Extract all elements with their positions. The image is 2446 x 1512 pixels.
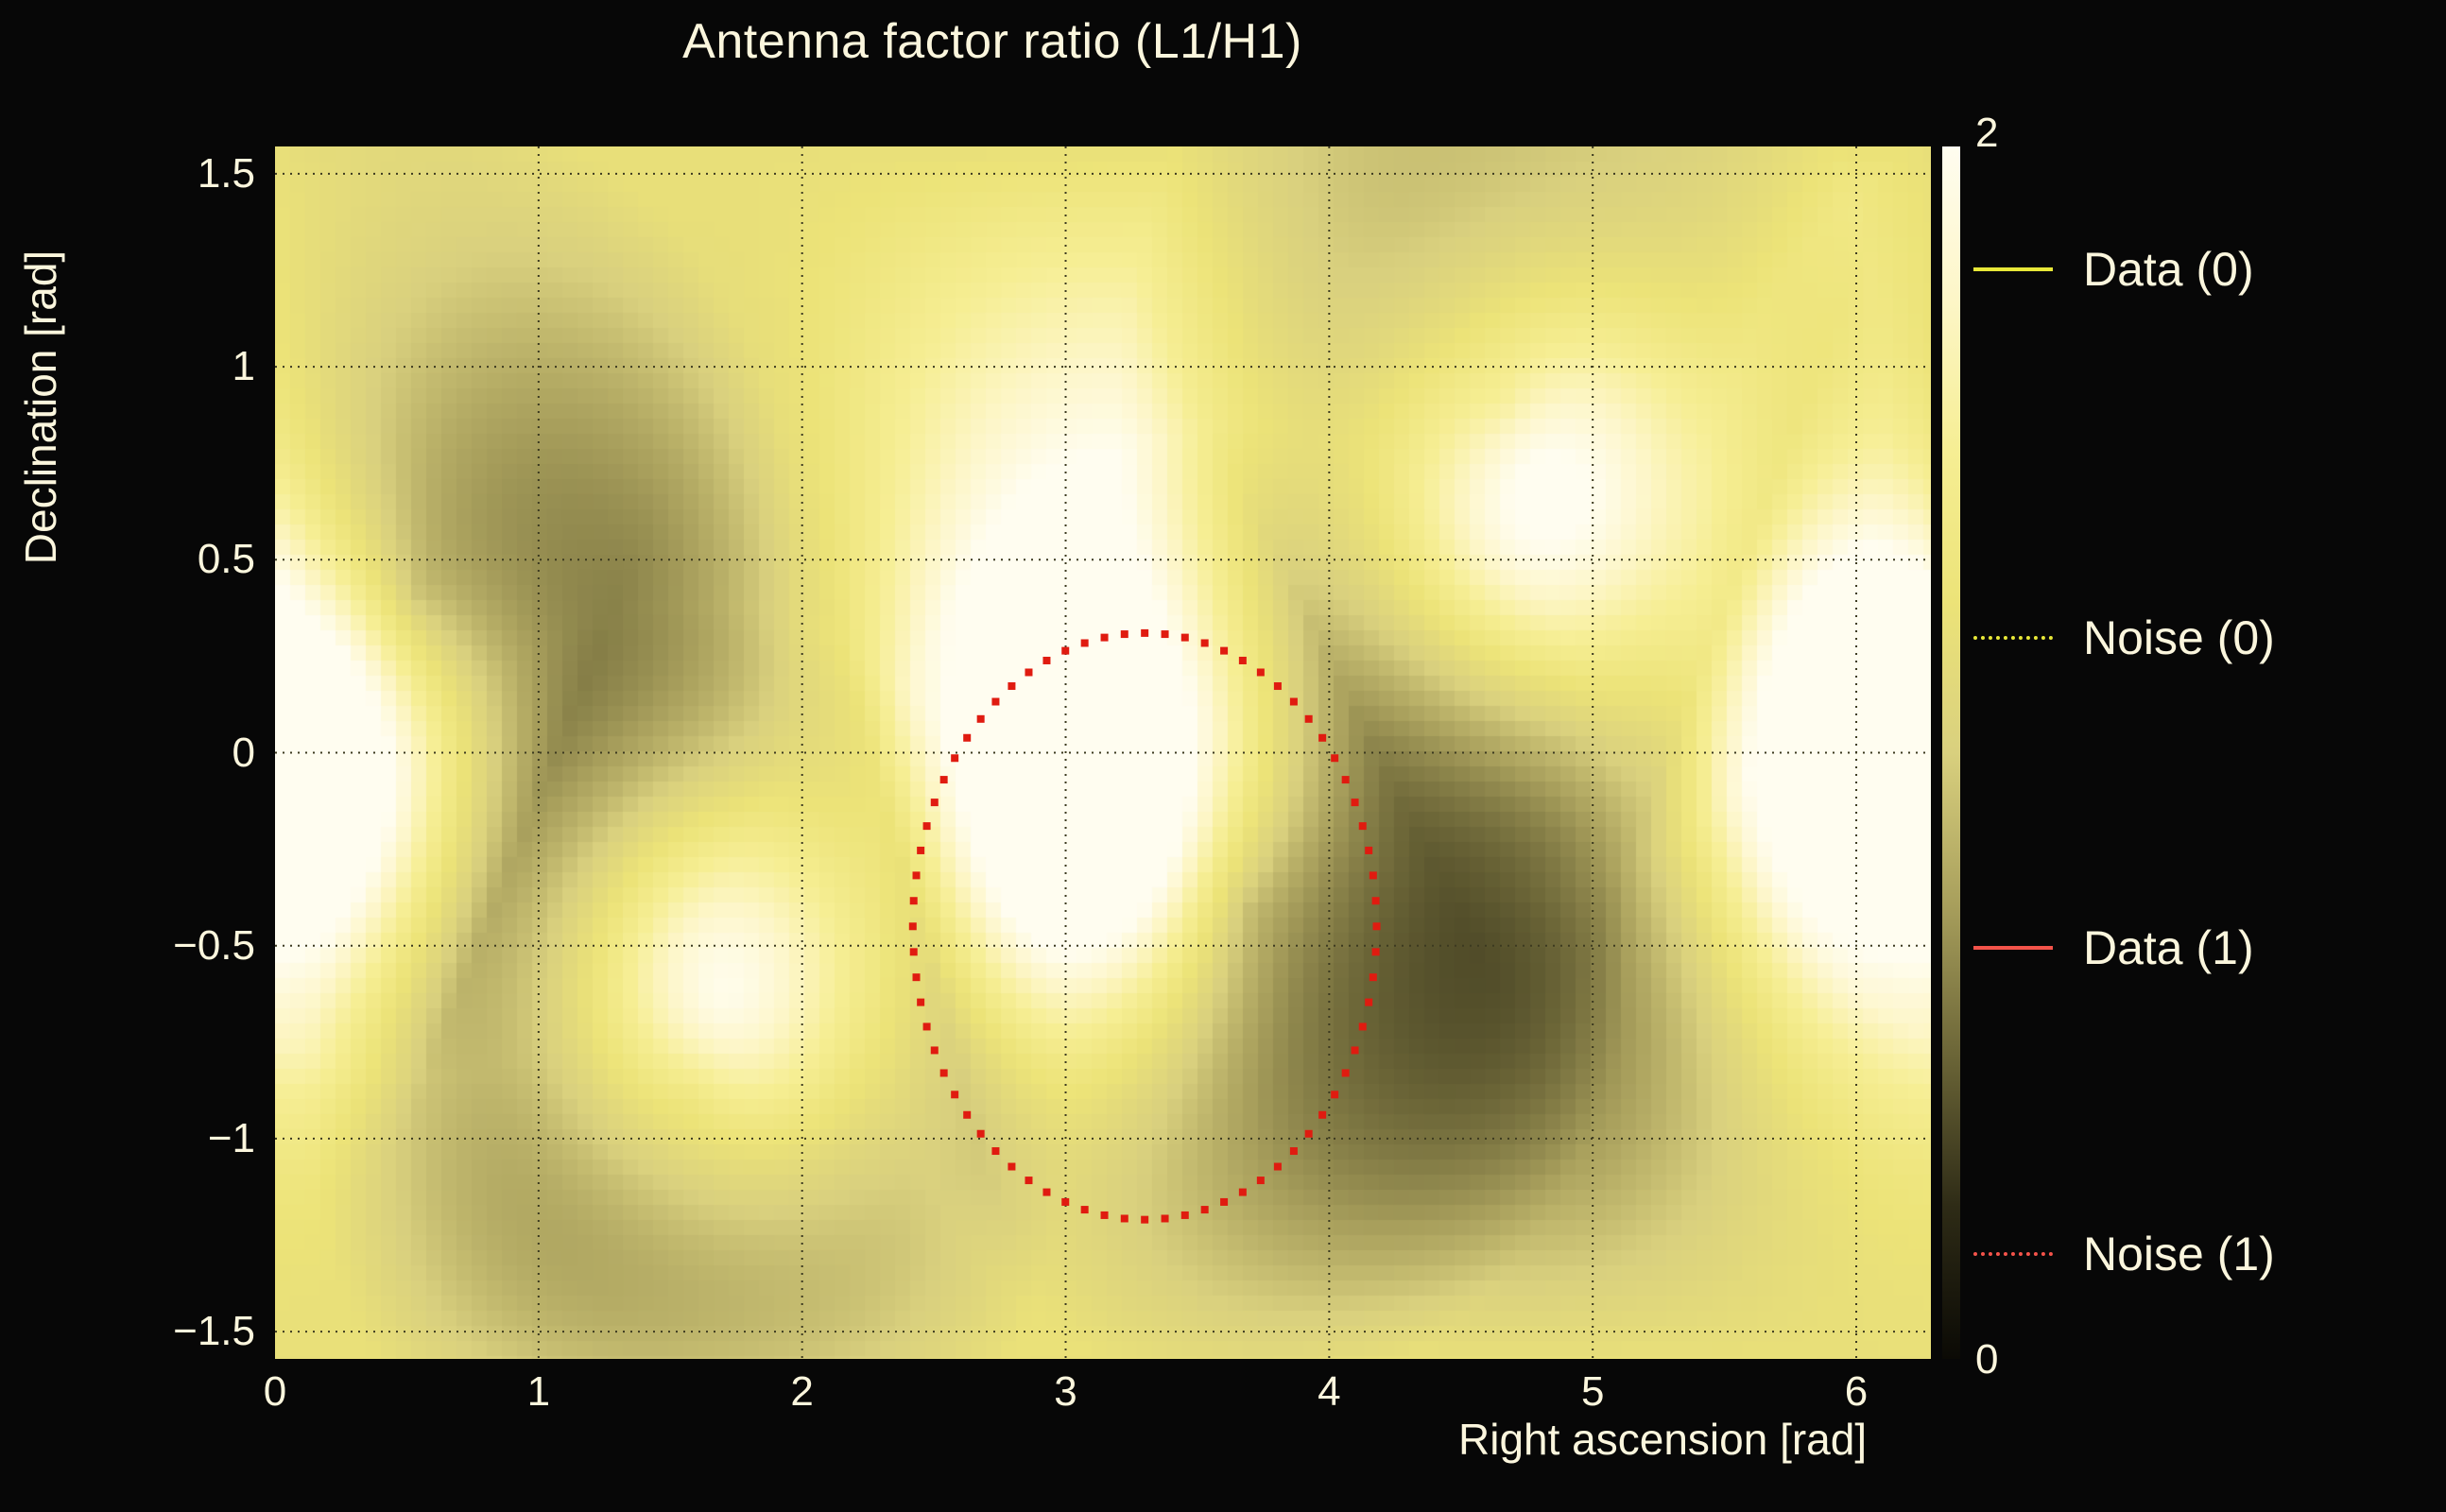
x-axis-title: Right ascension [rad] [1458,1414,1867,1465]
legend-label: Noise (1) [2083,1230,2275,1278]
y-tick-label: −1 [104,1115,255,1162]
x-tick-label: 3 [1054,1368,1077,1416]
contour-point [1081,1206,1089,1213]
contour-point [1025,668,1032,676]
contour-point [1365,999,1372,1006]
legend-label: Noise (0) [2083,614,2275,661]
contour-point [913,871,921,879]
contour-point [1342,776,1350,783]
contour-point [1305,715,1313,723]
legend-entry[interactable]: Data (1) [1973,915,2254,981]
heatmap-plot-area[interactable] [275,146,1931,1359]
contour-point [1352,799,1359,806]
x-tick-label: 0 [264,1368,286,1416]
contour-point [940,1069,948,1076]
contour-point [1141,629,1148,637]
legend: Data (0)Noise (0)Data (1)Noise (1) [1973,236,2427,1262]
contour-point [1239,657,1247,664]
plot-canvas: Antenna factor ratio (L1/H1) 0123456 1.5… [0,0,2446,1512]
y-axis-title: Declination [rad] [15,143,66,672]
y-tick-label: −0.5 [104,922,255,970]
contour-point [991,1147,999,1155]
contour-point [923,1022,931,1030]
contour-point [977,1130,985,1138]
contour-point [1342,1069,1350,1076]
contour-point [1318,1111,1326,1119]
contour-point [1373,922,1381,930]
contour-point [1239,1189,1247,1196]
contour-point [991,698,999,706]
legend-label: Data (1) [2083,924,2254,971]
contour-point [1042,657,1050,664]
legend-entry[interactable]: Noise (1) [1973,1221,2275,1287]
contour-point [1181,1211,1189,1219]
contour-point [1061,1198,1069,1206]
colorbar-label-max: 2 [1975,110,1998,157]
y-tick-label: −1.5 [104,1308,255,1355]
contour-point [913,973,921,981]
legend-label: Data (0) [2083,246,2254,293]
contour-point [1369,871,1377,879]
contour-point [1101,634,1109,642]
contour-point [1369,973,1377,981]
contour-point [1331,754,1338,762]
contour-point [1081,639,1089,646]
contour-point [1290,1147,1298,1155]
contour-point [1274,1163,1282,1171]
contour-point [1257,668,1265,676]
contour-point [1365,847,1372,854]
contour-point [1121,630,1128,638]
contour-point [1181,634,1189,642]
x-tick-label: 6 [1845,1368,1868,1416]
contour-overlay [275,146,1931,1359]
contour-ellipse [909,629,1381,1224]
contour-point [1274,682,1282,690]
contour-point [1372,897,1380,904]
y-tick-label: 1 [104,343,255,390]
contour-point [910,897,918,904]
legend-line-swatch [1973,267,2053,271]
contour-point [909,922,917,930]
contour-point [1008,682,1015,690]
contour-point [977,715,985,723]
x-tick-label: 4 [1318,1368,1340,1416]
x-tick-label: 1 [527,1368,550,1416]
x-tick-label: 2 [790,1368,813,1416]
contour-point [931,1046,939,1054]
contour-point [1359,1022,1367,1030]
contour-point [940,776,948,783]
contour-point [1008,1163,1015,1171]
colorbar-gradient [1942,146,1960,1359]
contour-point [917,847,924,854]
contour-point [1318,734,1326,742]
y-tick-label: 1.5 [104,150,255,198]
page-title: Antenna factor ratio (L1/H1) [0,13,1985,70]
legend-line-swatch [1973,636,2053,640]
legend-line-swatch [1973,1252,2053,1256]
contour-point [951,754,958,762]
contour-point [1352,1046,1359,1054]
contour-point [1290,698,1298,706]
contour-point [1359,822,1367,830]
contour-point [910,948,918,955]
contour-point [1305,1130,1313,1138]
contour-point [1141,1216,1148,1224]
x-tick-label: 5 [1581,1368,1604,1416]
contour-point [1042,1189,1050,1196]
contour-point [1201,1206,1209,1213]
legend-line-swatch [1973,946,2053,950]
colorbar[interactable] [1942,146,1960,1359]
legend-entry[interactable]: Data (0) [1973,236,2254,302]
y-tick-label: 0 [104,730,255,777]
contour-point [951,1091,958,1098]
contour-point [1201,639,1209,646]
y-tick-label: 0.5 [104,536,255,583]
contour-point [917,999,924,1006]
contour-point [1025,1177,1032,1184]
contour-point [963,1111,971,1119]
contour-point [1061,647,1069,655]
contour-point [1220,1198,1228,1206]
contour-point [1372,948,1380,955]
contour-point [1220,647,1228,655]
legend-entry[interactable]: Noise (0) [1973,605,2275,671]
contour-point [923,822,931,830]
contour-point [1331,1091,1338,1098]
colorbar-label-min: 0 [1975,1336,1998,1383]
contour-point [1257,1177,1265,1184]
contour-point [1121,1214,1128,1222]
contour-point [963,734,971,742]
contour-point [1162,1214,1169,1222]
contour-point [931,799,939,806]
contour-point [1101,1211,1109,1219]
contour-point [1162,630,1169,638]
